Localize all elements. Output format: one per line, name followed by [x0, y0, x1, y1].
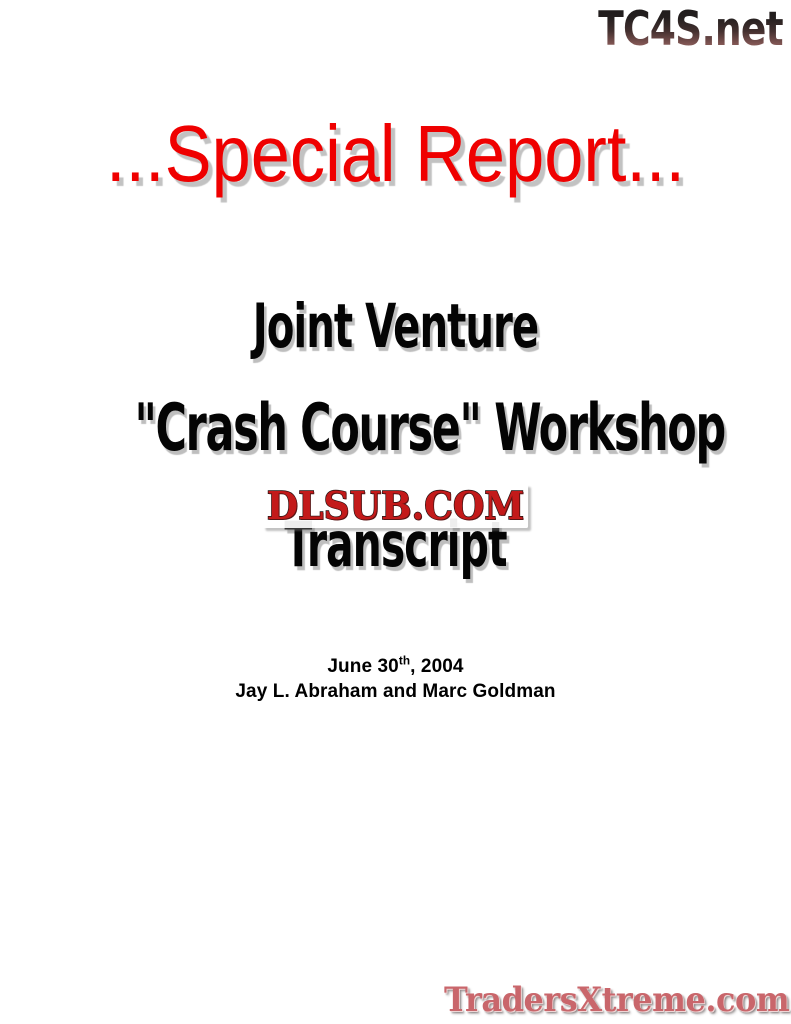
title-line-transcript: Transcript: [134, 510, 656, 580]
byline-authors: Jay L. Abraham and Marc Goldman: [0, 679, 791, 704]
byline-date-prefix: June 30: [327, 656, 398, 677]
footer-logo-tradersxtreme: TradersXtreme.com: [444, 979, 789, 1021]
byline-date-suffix: , 2004: [410, 656, 463, 677]
document-page: TC4S.net ...Special Report... Joint Vent…: [0, 0, 791, 1024]
special-report-heading: ...Special Report...: [47, 108, 743, 200]
title-line-joint-venture: Joint Venture: [134, 292, 656, 362]
byline-date: June 30th, 2004: [0, 654, 791, 679]
byline-block: June 30th, 2004 Jay L. Abraham and Marc …: [0, 654, 791, 704]
byline-date-ordinal: th: [399, 655, 410, 668]
title-line-crash-course-workshop: "Crash Course" Workshop: [134, 392, 656, 466]
brand-logo-tc4s: TC4S.net: [598, 4, 783, 56]
